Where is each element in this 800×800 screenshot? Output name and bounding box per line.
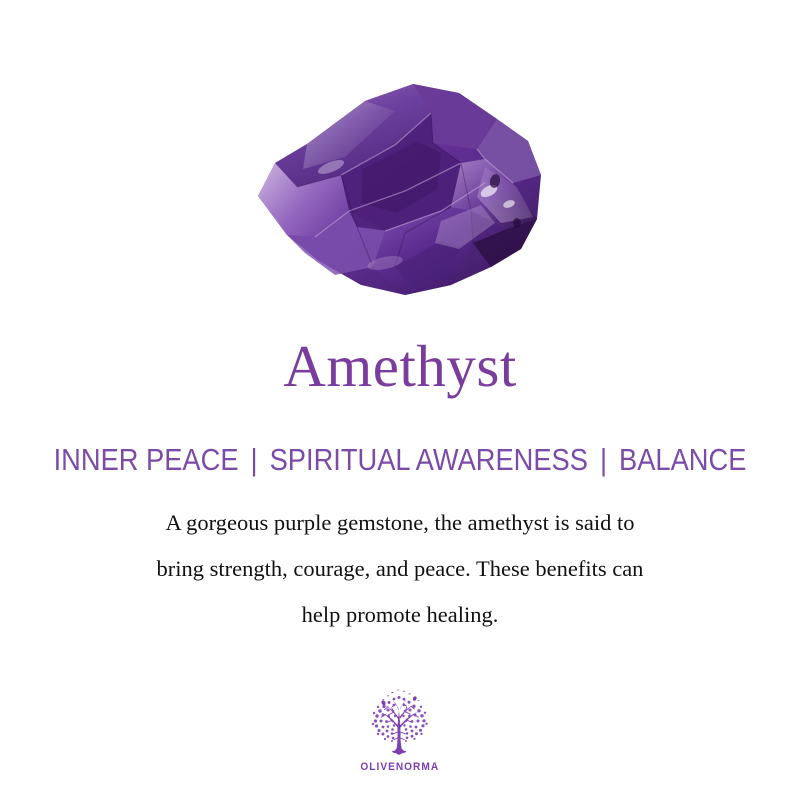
keyword-separator: |	[246, 441, 262, 479]
product-description: A gorgeous purple gemstone, the amethyst…	[60, 500, 740, 638]
description-line: bring strength, courage, and peace. Thes…	[60, 546, 740, 592]
amethyst-crystal-icon	[245, 71, 555, 303]
keyword-separator: |	[596, 441, 612, 479]
tree-of-life-icon	[362, 686, 438, 758]
gemstone-image	[0, 62, 800, 312]
brand-wordmark: OLIVENORMA	[361, 761, 440, 773]
keyword-tagline: INNER PEACE | SPIRITUAL AWARENESS | BALA…	[48, 441, 752, 479]
keyword-spiritual-awareness: SPIRITUAL AWARENESS	[270, 441, 588, 479]
product-title: Amethyst	[0, 333, 800, 399]
product-info-card: Amethyst INNER PEACE | SPIRITUAL AWARENE…	[0, 0, 800, 800]
keyword-balance: BALANCE	[619, 441, 746, 479]
description-line: A gorgeous purple gemstone, the amethyst…	[60, 500, 740, 546]
description-line: help promote healing.	[60, 592, 740, 638]
keyword-inner-peace: INNER PEACE	[54, 441, 239, 479]
brand-logo: OLIVENORMA	[0, 686, 800, 773]
